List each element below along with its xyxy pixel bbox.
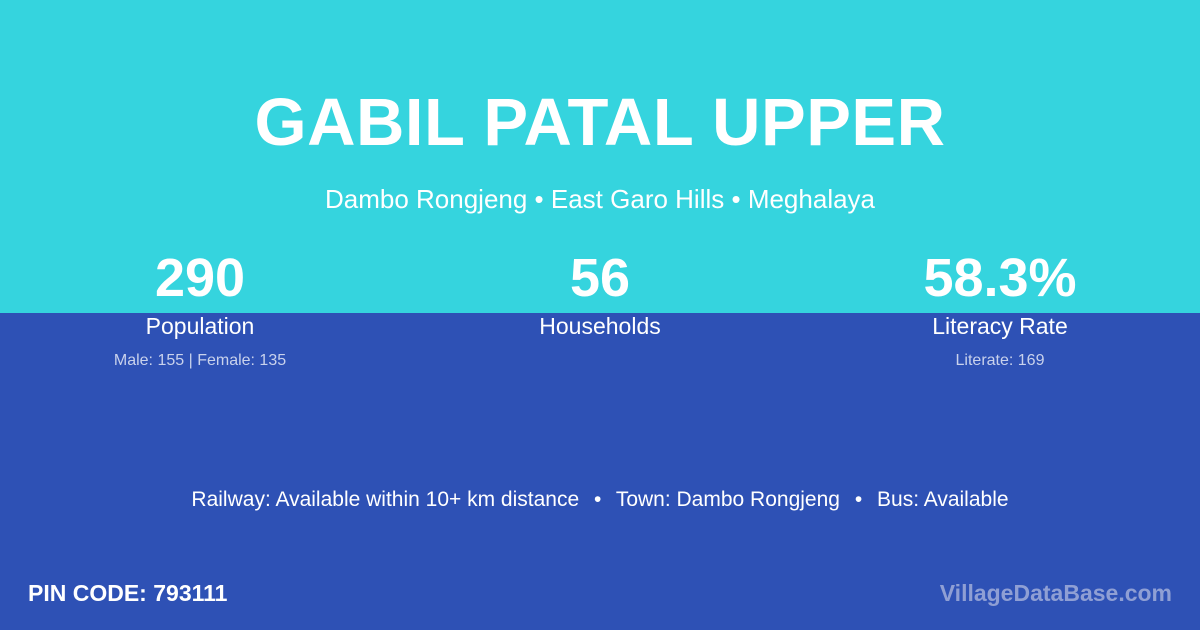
- stats-row: 290 Population Male: 155 | Female: 135 5…: [0, 245, 1200, 372]
- facility-bus: Bus: Available: [877, 488, 1009, 511]
- stat-population-label: Population: [0, 311, 400, 341]
- facility-town: Town: Dambo Rongjeng: [616, 488, 840, 511]
- stat-literacy-label: Literacy Rate: [800, 311, 1200, 341]
- facility-railway: Railway: Available within 10+ km distanc…: [191, 488, 579, 511]
- stat-households: 56 Households: [400, 245, 800, 372]
- stat-households-value: 56: [400, 245, 800, 311]
- location-breadcrumb: Dambo Rongjeng • East Garo Hills • Megha…: [0, 183, 1200, 215]
- stat-literacy-value: 58.3%: [800, 245, 1200, 311]
- stat-population-sub: Male: 155 | Female: 135: [0, 350, 400, 372]
- stat-literacy: 58.3% Literacy Rate Literate: 169: [800, 245, 1200, 372]
- facility-separator-icon: •: [585, 488, 610, 511]
- stat-literacy-sub: Literate: 169: [800, 350, 1200, 372]
- brand-watermark: VillageDataBase.com: [940, 578, 1172, 608]
- stat-population-value: 290: [0, 245, 400, 311]
- stat-population: 290 Population Male: 155 | Female: 135: [0, 245, 400, 372]
- stat-households-label: Households: [400, 311, 800, 341]
- pin-code: PIN CODE: 793111: [28, 578, 227, 608]
- facilities-row: Railway: Available within 10+ km distanc…: [0, 485, 1200, 515]
- page-title: GABIL PATAL UPPER: [0, 82, 1200, 164]
- facility-separator-icon: •: [846, 488, 871, 511]
- village-info-card: GABIL PATAL UPPER Dambo Rongjeng • East …: [0, 0, 1200, 630]
